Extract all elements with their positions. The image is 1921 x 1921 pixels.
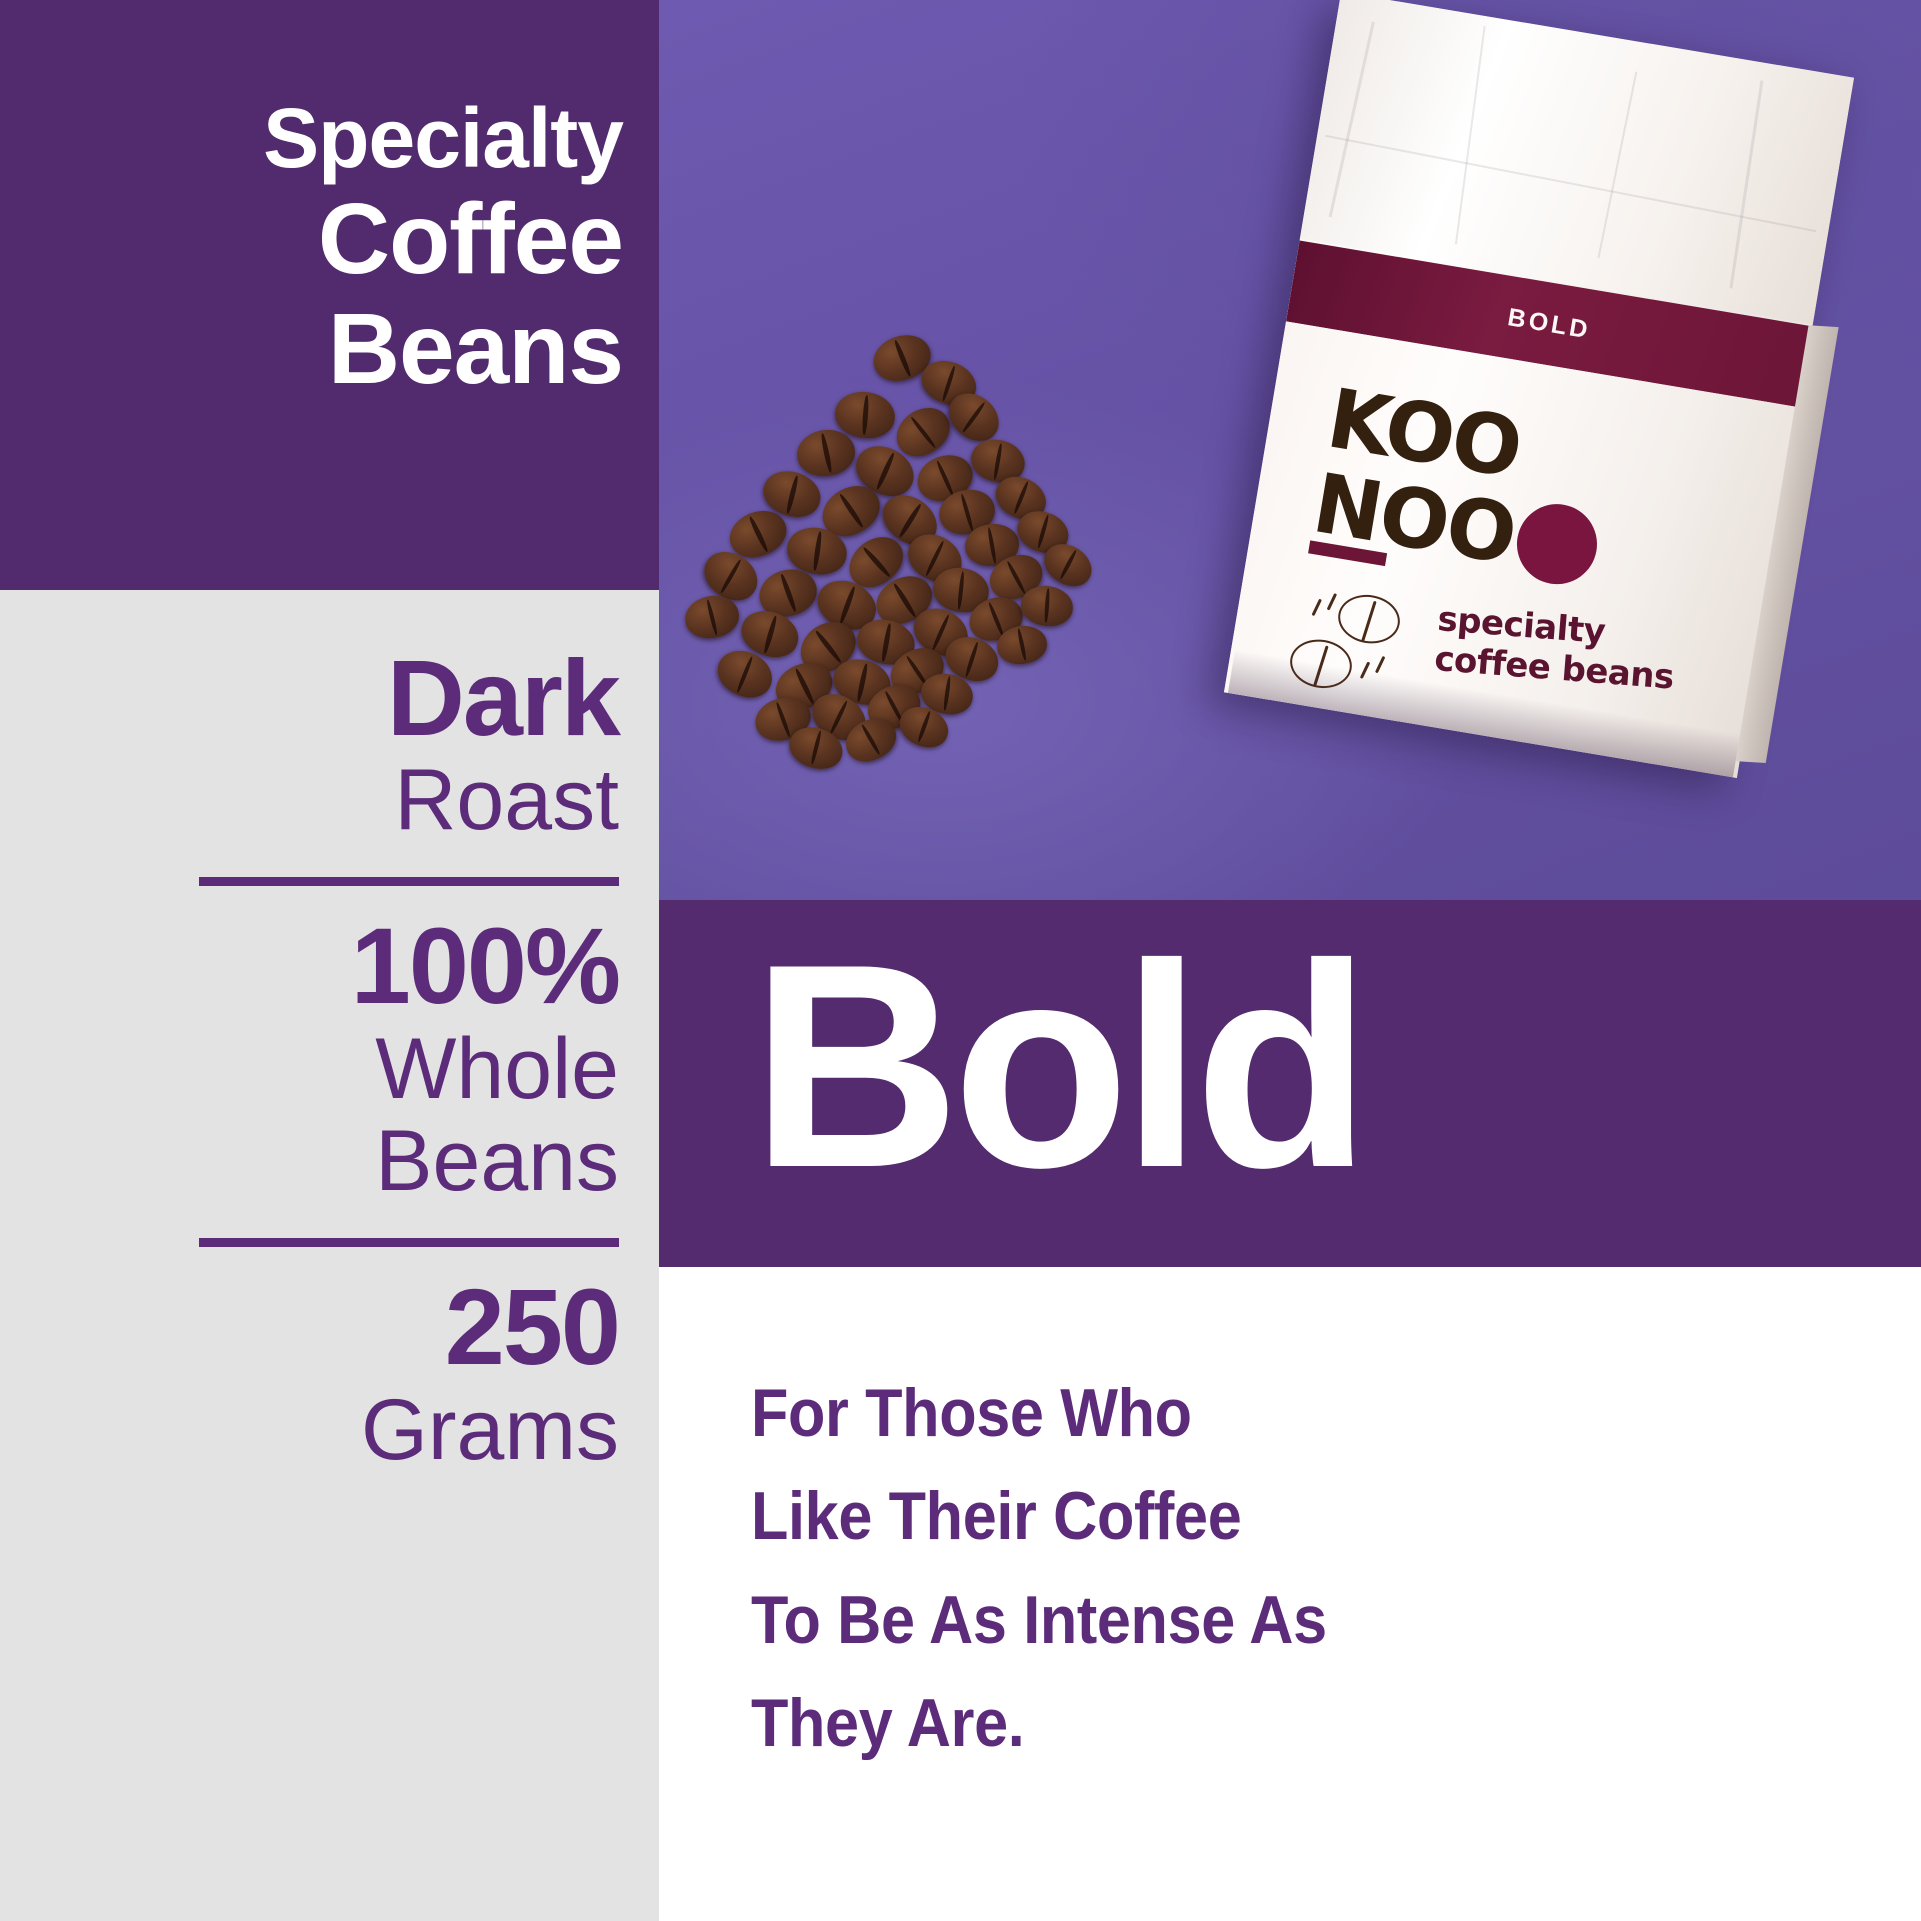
bag-tagline: specialty coffee beans [1433, 599, 1678, 698]
description-line: Like Their Coffee [751, 1465, 1759, 1568]
coffee-bean-pile [659, 300, 1139, 720]
description-panel: For Those Who Like Their Coffee To Be As… [659, 1267, 1921, 1921]
product-infographic: Specialty Coffee Beans Dark Roast 100% W… [0, 0, 1921, 1921]
fold-crease [1325, 135, 1816, 232]
spec-purity-label-line-2: Beans [0, 1115, 619, 1208]
brand-title: Specialty Coffee Beans [83, 92, 623, 404]
fold-crease [1597, 72, 1637, 259]
steam-icon [1312, 599, 1322, 617]
spec-item-weight: 250 Grams [0, 1271, 619, 1476]
description-line: They Are. [751, 1672, 1759, 1775]
steam-icon [1375, 656, 1385, 674]
spec-divider-2 [199, 1238, 619, 1247]
coffee-bean-icon [1334, 590, 1403, 648]
spec-roast-value: Dark [0, 642, 619, 754]
fold-crease [1455, 26, 1486, 244]
spec-item-purity: 100% Whole Beans [0, 910, 619, 1208]
brand-panel: Specialty Coffee Beans [0, 0, 659, 590]
coffee-bean [794, 426, 858, 480]
spec-purity-value: 100% [0, 910, 619, 1022]
brand-title-line-2: Coffee [83, 184, 623, 294]
spec-roast-label: Roast [0, 754, 619, 847]
fold-crease [1329, 22, 1375, 218]
spec-purity-label-line-1: Whole [0, 1023, 619, 1116]
brand-title-line-3: Beans [83, 294, 623, 404]
headline-band: Bold [659, 900, 1921, 1267]
left-column: Specialty Coffee Beans Dark Roast 100% W… [0, 0, 659, 1921]
bag-variant-label: BOLD [1506, 303, 1593, 345]
fold-crease [1729, 80, 1763, 288]
product-photo: BOLD KOO NOO [659, 0, 1921, 900]
brand-title-line-1: Specialty [83, 92, 623, 184]
spec-divider-1 [199, 877, 619, 886]
steam-icon [1327, 593, 1337, 611]
spec-weight-label: Grams [0, 1384, 619, 1477]
brand-logo-dot [1511, 498, 1603, 590]
description-text: For Those Who Like Their Coffee To Be As… [751, 1362, 1871, 1775]
spec-panel: Dark Roast 100% Whole Beans 250 Grams [0, 590, 659, 1921]
brand-logo: KOO NOO [1307, 376, 1661, 600]
description-line: For Those Who [751, 1362, 1759, 1465]
description-line: To Be As Intense As [751, 1569, 1759, 1672]
spec-weight-value: 250 [0, 1271, 619, 1383]
spec-item-roast: Dark Roast [0, 642, 619, 847]
spec-list: Dark Roast 100% Whole Beans 250 Grams [0, 632, 619, 1476]
page-title: Bold [751, 878, 1363, 1255]
